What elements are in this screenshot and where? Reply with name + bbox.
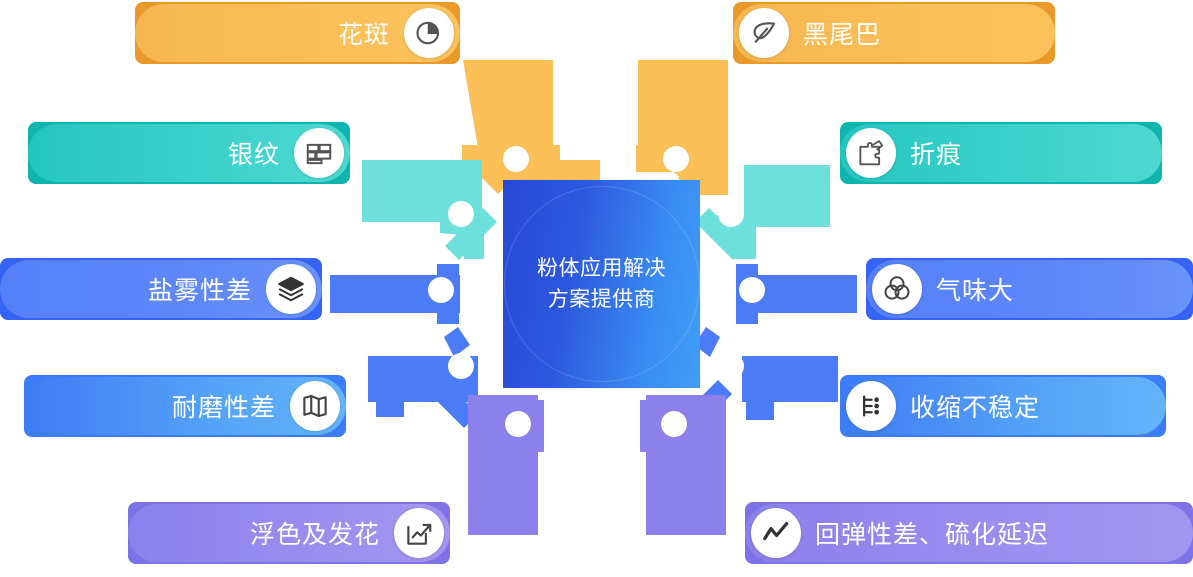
connector-left-1 xyxy=(462,60,600,195)
pie-chart-icon xyxy=(404,8,454,58)
pill-right-4[interactable]: 收缩不稳定 xyxy=(840,375,1166,437)
pill-body[interactable]: 花斑 xyxy=(135,4,460,62)
recycle-icon xyxy=(872,264,922,314)
pill-body[interactable]: 银纹 xyxy=(28,124,350,182)
pill-body[interactable]: 盐雾性差 xyxy=(0,260,322,318)
pill-body[interactable]: 黑尾巴 xyxy=(733,4,1055,62)
trend-up-icon xyxy=(394,508,444,558)
pill-right-5[interactable]: 回弹性差、硫化延迟 xyxy=(745,502,1193,564)
sitemap-icon xyxy=(846,381,896,431)
pill-label: 回弹性差、硫化延迟 xyxy=(815,515,1049,551)
puzzle-icon xyxy=(846,128,896,178)
pill-left-2[interactable]: 银纹 xyxy=(28,122,350,184)
line-chart-icon xyxy=(751,508,801,558)
connector-left-5 xyxy=(468,395,544,535)
connector-right-5 xyxy=(640,395,726,535)
center-node: 粉体应用解决 方案提供商 xyxy=(503,180,700,388)
pill-label: 银纹 xyxy=(228,135,280,171)
pill-label: 浮色及发花 xyxy=(250,515,380,551)
connector-right-3 xyxy=(736,264,857,324)
pill-body[interactable]: 气味大 xyxy=(866,260,1193,318)
center-label: 粉体应用解决 方案提供商 xyxy=(537,253,666,315)
pill-label: 气味大 xyxy=(936,271,1014,307)
pill-left-4[interactable]: 耐磨性差 xyxy=(24,375,346,437)
brick-wall-icon xyxy=(294,128,344,178)
pill-right-1[interactable]: 黑尾巴 xyxy=(733,2,1055,64)
pill-label: 花斑 xyxy=(338,15,390,51)
map-icon xyxy=(290,381,340,431)
layers-icon xyxy=(266,264,316,314)
pill-right-3[interactable]: 气味大 xyxy=(866,258,1193,320)
pill-label: 收缩不稳定 xyxy=(910,388,1040,424)
pill-right-2[interactable]: 折痕 xyxy=(840,122,1162,184)
connector-left-3 xyxy=(330,264,460,324)
infographic-canvas: 粉体应用解决 方案提供商 花斑 银纹 xyxy=(0,0,1193,577)
connector-left-2 xyxy=(362,160,497,260)
pill-label: 盐雾性差 xyxy=(148,271,252,307)
pill-body[interactable]: 耐磨性差 xyxy=(24,377,346,435)
connector-right-1 xyxy=(636,60,728,195)
pill-body[interactable]: 浮色及发花 xyxy=(128,504,450,562)
connector-left-4 xyxy=(368,327,478,428)
leaf-icon xyxy=(739,8,789,58)
pill-body[interactable]: 折痕 xyxy=(840,124,1162,182)
pill-label: 耐磨性差 xyxy=(172,388,276,424)
pill-left-1[interactable]: 花斑 xyxy=(135,2,460,64)
pill-body[interactable]: 收缩不稳定 xyxy=(840,377,1166,435)
center-label-line1: 粉体应用解决 xyxy=(537,253,666,284)
pill-left-3[interactable]: 盐雾性差 xyxy=(0,258,322,320)
center-label-line2: 方案提供商 xyxy=(537,284,666,315)
pill-left-5[interactable]: 浮色及发花 xyxy=(128,502,450,564)
pill-body[interactable]: 回弹性差、硫化延迟 xyxy=(745,504,1193,562)
pill-label: 黑尾巴 xyxy=(803,15,881,51)
pill-label: 折痕 xyxy=(910,135,962,171)
